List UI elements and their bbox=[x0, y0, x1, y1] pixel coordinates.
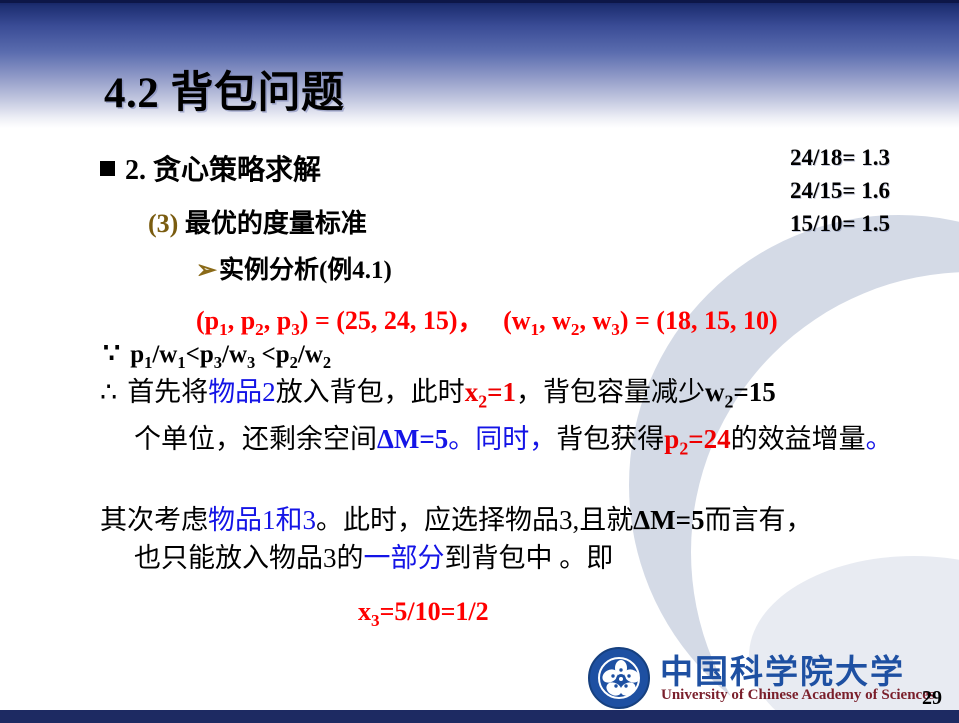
outline-level3-label: 实例分析(例4.1) bbox=[219, 257, 392, 284]
outline-level3: ➢实例分析(例4.1) bbox=[196, 250, 392, 286]
ratio-calculations: 24/18= 1.3 24/15= 1.6 15/10= 1.5 bbox=[790, 141, 890, 240]
because-inequality-line: ∵p1/w1<p3/w3 <p2/w2 bbox=[103, 338, 331, 373]
paragraph-first-item: ∴首先将物品2放入背包，此时x2=1，背包容量减少w2=15 个单位，还剩余空间… bbox=[100, 373, 959, 468]
p2-seg6: 也只能放入物品3的 bbox=[134, 543, 364, 573]
p2-seg8: 到背包中 。即 bbox=[445, 543, 614, 573]
outline-level2-number: (3) bbox=[148, 209, 178, 238]
therefore-symbol: ∴ bbox=[100, 377, 117, 407]
outline-level2-label: 最优的度量标准 bbox=[185, 209, 367, 238]
p1-seg7: 个单位，还剩余空间 bbox=[134, 424, 377, 454]
given-values-formula: (p1, p2, p3) = (25, 24, 15)， (w1, w2, w3… bbox=[196, 300, 778, 340]
slide-canvas: 4.2 背包问题 24/18= 1.3 24/15= 1.6 15/10= 1.… bbox=[0, 0, 959, 723]
ratio-line-2: 24/15= 1.6 bbox=[790, 174, 890, 207]
p1-seg9: 。同时， bbox=[448, 424, 556, 454]
p1-seg2-item2: 物品2 bbox=[208, 377, 276, 407]
because-symbol: ∵ bbox=[103, 338, 120, 368]
p1-seg5: ，背包容量减少 bbox=[516, 377, 705, 407]
outline-level2: (3) 最优的度量标准 bbox=[148, 203, 367, 240]
p1-seg13-period: 。 bbox=[866, 424, 893, 454]
outline-level1: 2. 贪心策略求解 bbox=[100, 148, 321, 188]
p1-seg12: 的效益增量 bbox=[731, 424, 866, 454]
square-bullet-icon bbox=[100, 161, 115, 176]
university-logo: 中国科学院大学 University of Chinese Academy of… bbox=[588, 645, 918, 713]
p1-seg10: 背包获得 bbox=[556, 424, 664, 454]
p2-seg1: 其次考虑 bbox=[100, 505, 208, 535]
paragraph-second-item: 其次考虑物品1和3。此时，应选择物品3,且就ΔM=5而言有， 也只能放入物品3的… bbox=[100, 501, 959, 577]
p1-seg8-deltaM: ΔM=5 bbox=[377, 424, 448, 454]
page-number: 29 bbox=[922, 687, 942, 710]
footer-bar bbox=[0, 710, 959, 723]
p1-seg4-x2: x2=1 bbox=[465, 377, 516, 407]
p2-seg4-deltaM: ΔM=5 bbox=[633, 505, 704, 535]
p2-seg2-items13: 物品1和3 bbox=[208, 505, 316, 535]
p2-seg3: 。此时，应选择物品3,且就 bbox=[316, 505, 633, 535]
ucas-seal-icon bbox=[588, 647, 650, 709]
ratio-line-3: 15/10= 1.5 bbox=[790, 207, 890, 240]
arrow-bullet-icon: ➢ bbox=[196, 257, 217, 284]
logo-chinese-name: 中国科学院大学 bbox=[660, 645, 905, 693]
p2-seg5: 而言有， bbox=[705, 505, 813, 535]
p1-seg3: 放入背包，此时 bbox=[276, 377, 465, 407]
slide-content: 24/18= 1.3 24/15= 1.6 15/10= 1.5 2. 贪心策略… bbox=[0, 0, 959, 723]
p1-seg1: 首先将 bbox=[127, 377, 208, 407]
p1-seg11-p2: p2=24 bbox=[664, 424, 730, 454]
p2-seg7-fraction: 一部分 bbox=[364, 543, 445, 573]
logo-english-name: University of Chinese Academy of Science… bbox=[661, 687, 935, 704]
p1-seg6-w2: w2=15 bbox=[705, 377, 776, 407]
ratio-line-1: 24/18= 1.3 bbox=[790, 141, 890, 174]
seal-flower-icon bbox=[590, 649, 652, 711]
outline-level1-label: 2. 贪心策略求解 bbox=[125, 155, 321, 186]
final-result-formula: x3=5/10=1/2 bbox=[358, 597, 489, 631]
